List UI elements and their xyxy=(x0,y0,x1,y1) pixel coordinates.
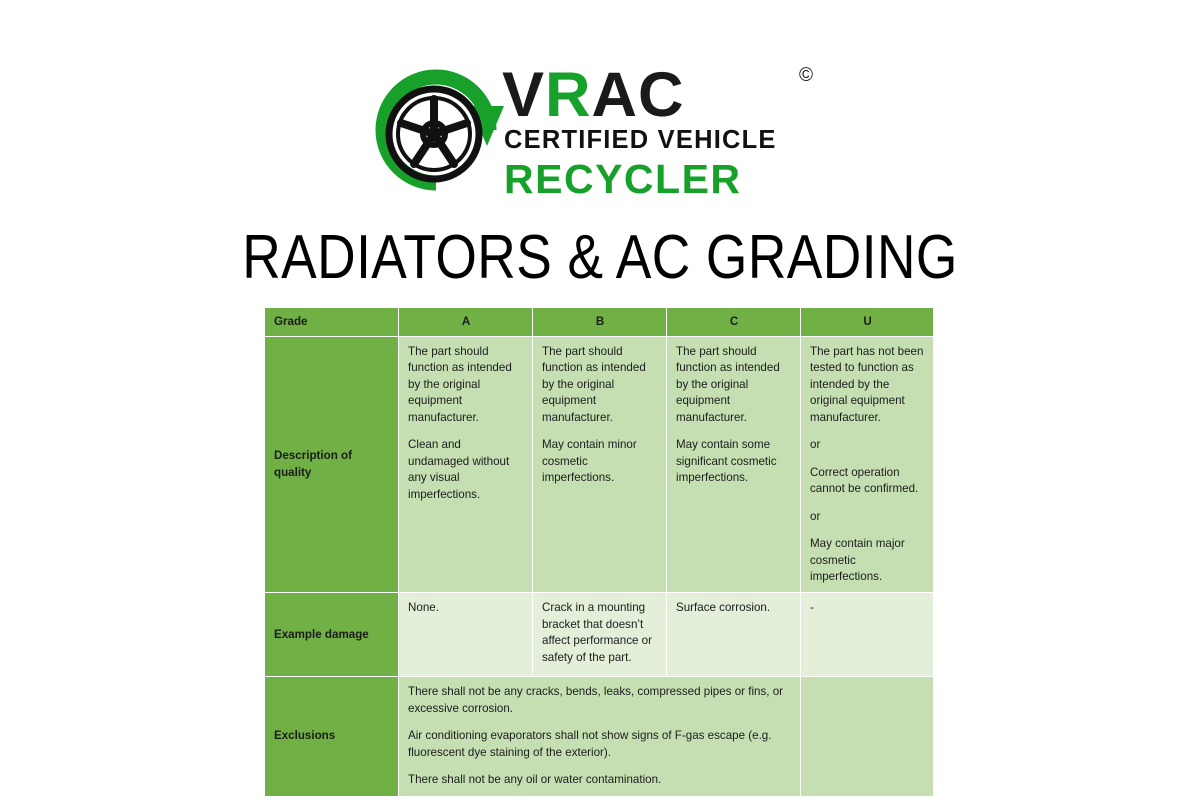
table-row-example-damage: Example damage None. Crack in a mounting… xyxy=(265,593,934,677)
cell-description-b: The part should function as intended by … xyxy=(533,337,667,593)
cell-example-damage-a: None. xyxy=(399,593,533,677)
wheel-recycle-arrow-icon xyxy=(372,66,508,198)
cell-paragraph: Surface corrosion. xyxy=(676,600,792,616)
cell-paragraph: or xyxy=(810,509,925,525)
cell-paragraph: May contain major cosmetic imperfections… xyxy=(810,536,925,585)
cell-paragraph: May contain some significant cosmetic im… xyxy=(676,437,792,486)
cell-paragraph: Clean and undamaged without any visual i… xyxy=(408,437,524,503)
row-label-description-of-quality: Description of quality xyxy=(265,337,399,593)
cell-example-damage-b: Crack in a mounting bracket that doesn’t… xyxy=(533,593,667,677)
table-row-exclusions: Exclusions There shall not be any cracks… xyxy=(265,677,934,796)
row-label-exclusions: Exclusions xyxy=(265,677,399,796)
vrac-logo: VRAC © CERTIFIED VEHICLE RECYCLER xyxy=(372,62,832,202)
cell-paragraph: or xyxy=(810,437,925,453)
cell-description-a: The part should function as intended by … xyxy=(399,337,533,593)
logo-letters-ac: AC xyxy=(592,60,685,130)
logo-wordmark: VRAC © CERTIFIED VEHICLE RECYCLER xyxy=(502,62,832,202)
cell-paragraph: The part should function as intended by … xyxy=(676,344,792,426)
cell-paragraph: There shall not be any oil or water cont… xyxy=(408,772,792,788)
cell-paragraph: The part should function as intended by … xyxy=(408,344,524,426)
logo-tagline: CERTIFIED VEHICLE xyxy=(504,128,777,154)
cell-paragraph: Crack in a mounting bracket that doesn’t… xyxy=(542,600,658,666)
cell-paragraph: Correct operation cannot be confirmed. xyxy=(810,465,925,498)
cell-paragraph: Air conditioning evaporators shall not s… xyxy=(408,728,792,761)
page-title: RADIATORS & AC GRADING xyxy=(84,222,1116,293)
row-label-example-damage: Example damage xyxy=(265,593,399,677)
grading-document-page: VRAC © CERTIFIED VEHICLE RECYCLER RADIAT… xyxy=(0,0,1200,800)
grading-table: Grade A B C U Description of quality The… xyxy=(264,307,934,797)
cell-paragraph: There shall not be any cracks, bends, le… xyxy=(408,684,792,717)
cell-paragraph: The part has not been tested to function… xyxy=(810,344,925,426)
logo-letter-v: V xyxy=(502,60,545,130)
cell-exclusions-u xyxy=(801,677,934,796)
cell-exclusions-merged: There shall not be any cracks, bends, le… xyxy=(399,677,801,796)
cell-description-c: The part should function as intended by … xyxy=(667,337,801,593)
cell-example-damage-u: - xyxy=(801,593,934,677)
header-grade-c: C xyxy=(667,308,801,337)
cell-paragraph: None. xyxy=(408,600,524,616)
logo-letter-r: R xyxy=(545,60,592,130)
cell-example-damage-c: Surface corrosion. xyxy=(667,593,801,677)
logo-recycler-text: RECYCLER xyxy=(504,159,742,200)
logo-vrac-text: VRAC xyxy=(502,64,685,127)
table-row-description-of-quality: Description of quality The part should f… xyxy=(265,337,934,593)
copyright-icon: © xyxy=(799,66,813,85)
cell-paragraph: - xyxy=(810,600,925,616)
header-grade-a: A xyxy=(399,308,533,337)
cell-paragraph: May contain minor cosmetic imperfections… xyxy=(542,437,658,486)
header-grade-u: U xyxy=(801,308,934,337)
cell-paragraph: The part should function as intended by … xyxy=(542,344,658,426)
header-grade-b: B xyxy=(533,308,667,337)
header-grade: Grade xyxy=(265,308,399,337)
cell-description-u: The part has not been tested to function… xyxy=(801,337,934,593)
table-header-row: Grade A B C U xyxy=(265,308,934,337)
